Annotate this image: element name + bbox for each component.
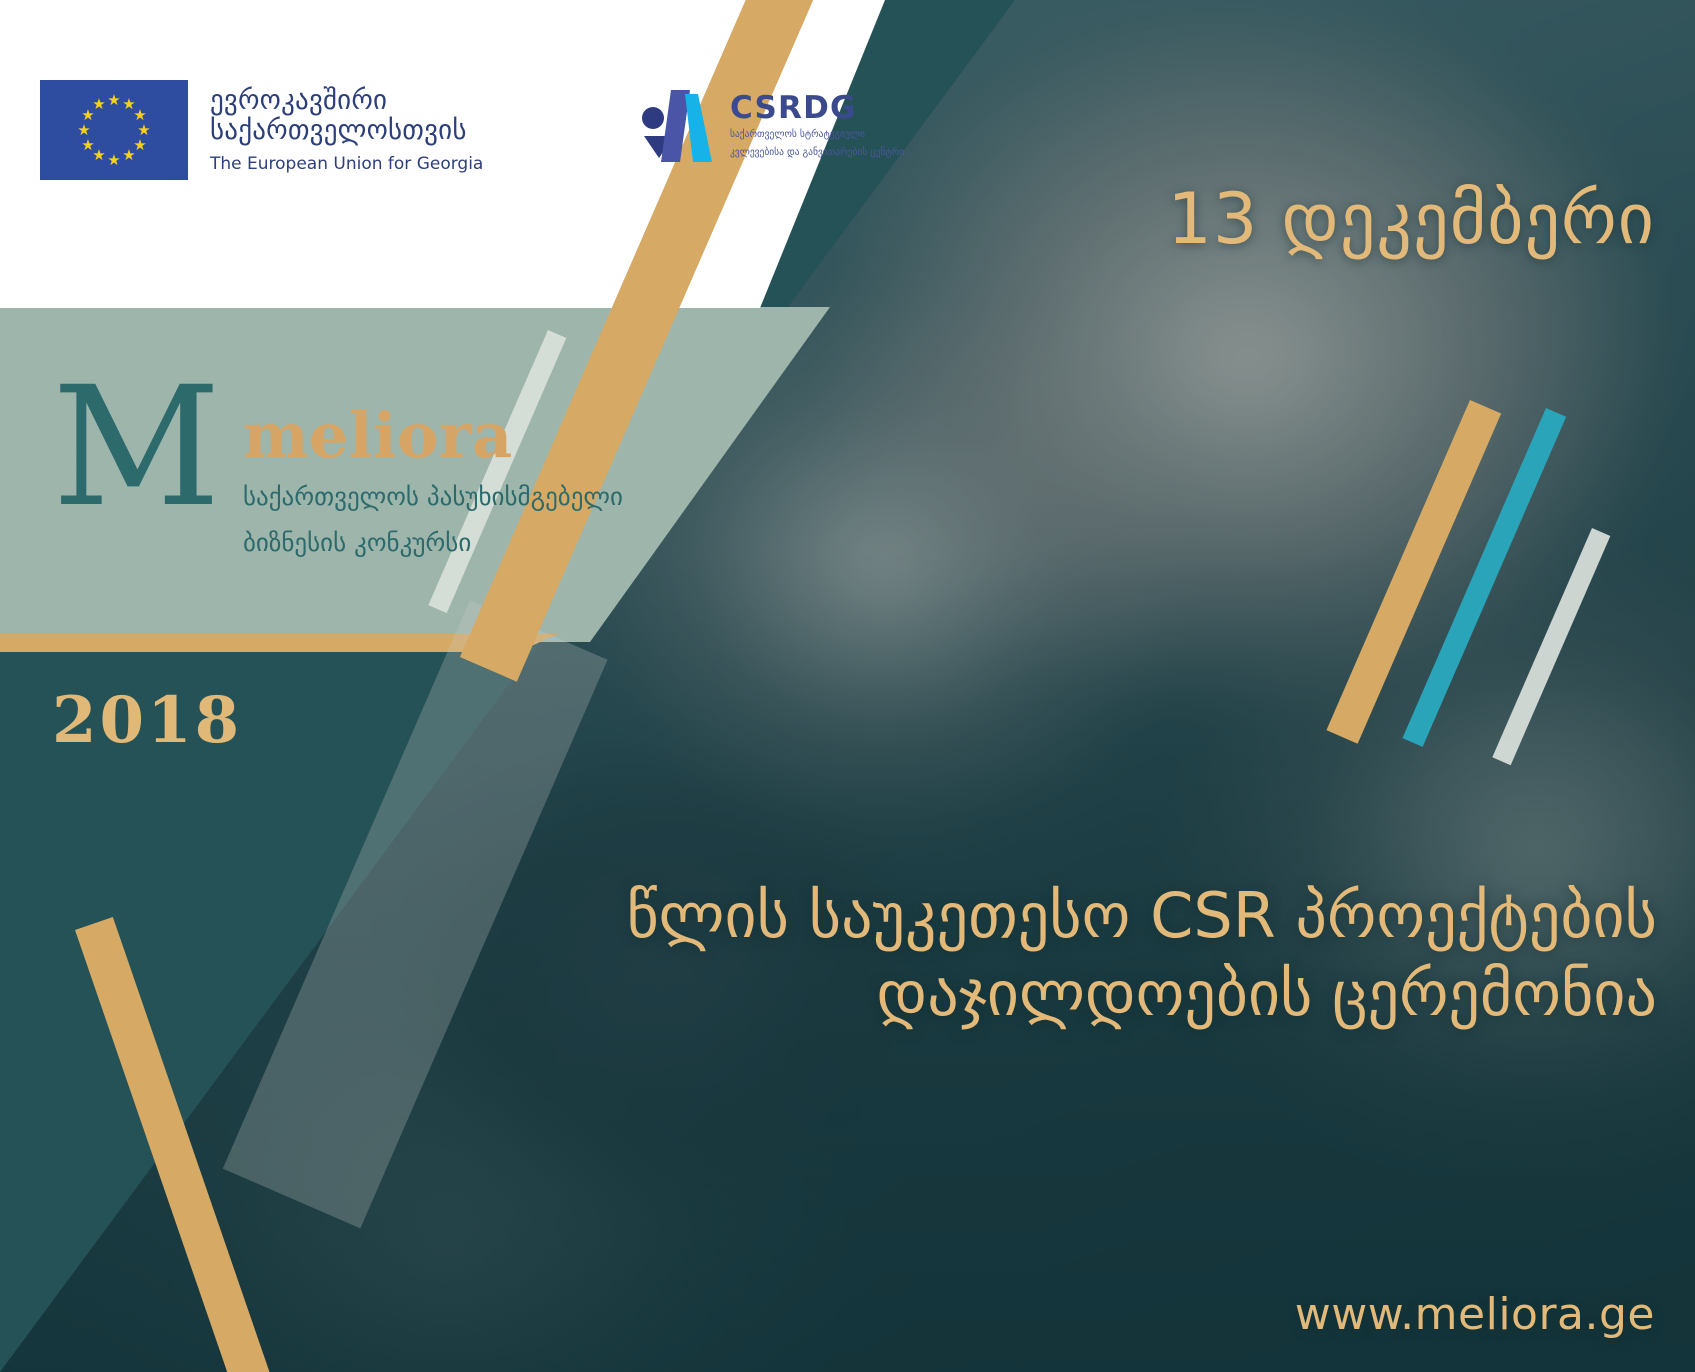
eu-star-icon: ★ <box>107 93 122 108</box>
meliora-wordmark: meliora <box>243 405 623 467</box>
eu-logo-georgian-line1: ევროკავშირი <box>210 86 483 116</box>
csrdg-subtitle-line2: კვლევებისა და განვითარების ცენტრი <box>730 147 904 160</box>
gold-divider-rule <box>0 634 520 652</box>
year-label: 2018 <box>52 683 242 758</box>
csrdg-logo: CSRDG საქართველოს სტრატეგიული კვლევებისა… <box>640 88 904 164</box>
csrdg-mark-icon <box>640 88 718 164</box>
event-poster: ★★★★★★★★★★★★ ევროკავშირი საქართველოსთვის… <box>0 0 1695 1372</box>
eu-star-icon: ★ <box>122 148 137 163</box>
meliora-logo: M meliora საქართველოს პასუხისმგებელი ბიზ… <box>52 383 623 559</box>
event-title-line1: წლის საუკეთესო CSR პროექტების <box>537 877 1657 955</box>
website-url[interactable]: www.meliora.ge <box>1295 1289 1655 1340</box>
meliora-subtitle-line1: საქართველოს პასუხისმგებელი <box>243 481 623 513</box>
european-union-logo: ★★★★★★★★★★★★ ევროკავშირი საქართველოსთვის… <box>40 80 483 180</box>
csrdg-logo-text: CSRDG საქართველოს სტრატეგიული კვლევებისა… <box>730 93 904 160</box>
eu-logo-english: The European Union for Georgia <box>210 155 483 174</box>
event-date: 13 დეკემბერი <box>1167 178 1655 260</box>
csrdg-subtitle-line1: საქართველოს სტრატეგიული <box>730 129 904 142</box>
eu-logo-georgian-line2: საქართველოსთვის <box>210 116 483 146</box>
csrdg-wordmark: CSRDG <box>730 93 904 124</box>
meliora-logo-text: meliora საქართველოს პასუხისმგებელი ბიზნე… <box>243 383 623 559</box>
meliora-subtitle-line2: ბიზნესის კონკურსი <box>243 527 623 559</box>
meliora-monogram: M <box>52 377 219 519</box>
eu-star-icon: ★ <box>92 97 107 112</box>
event-title-line2: დაჯილდოების ცერემონია <box>537 955 1657 1033</box>
eu-flag-icon: ★★★★★★★★★★★★ <box>40 80 188 180</box>
eu-star-icon: ★ <box>81 138 96 153</box>
eu-logo-text: ევროკავშირი საქართველოსთვის The European… <box>210 86 483 175</box>
event-title: წლის საუკეთესო CSR პროექტების დაჯილდოები… <box>537 877 1657 1033</box>
eu-star-icon: ★ <box>77 123 92 138</box>
eu-star-icon: ★ <box>107 153 122 168</box>
